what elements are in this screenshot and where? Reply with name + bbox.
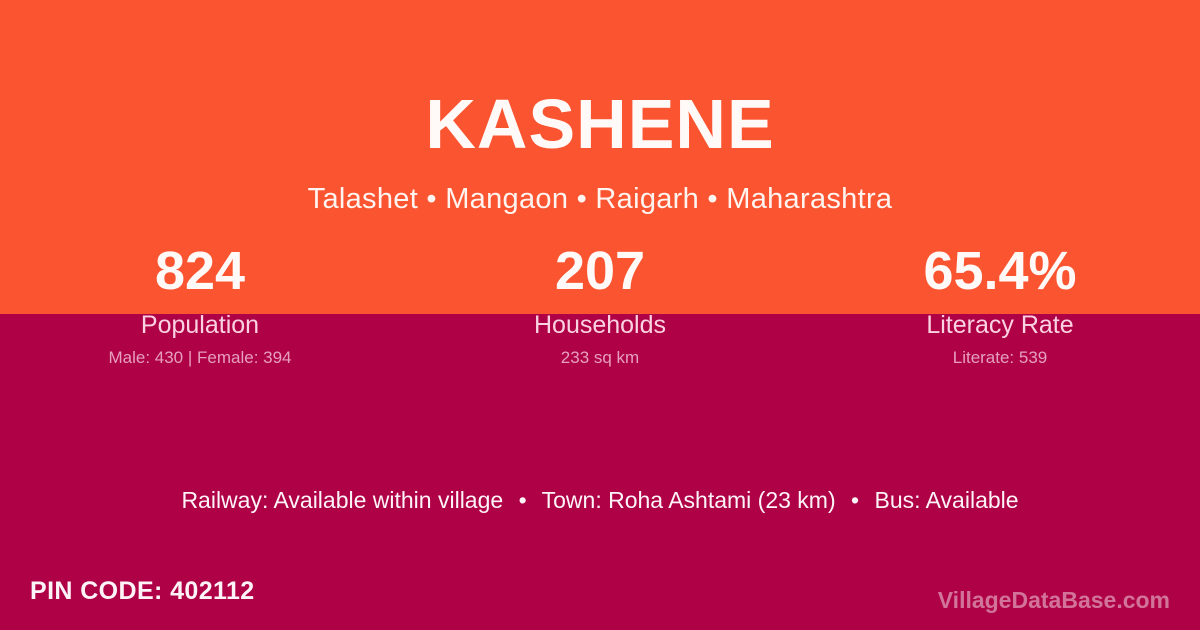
bullet-separator-icon: • (510, 485, 536, 515)
facility-town: Town: Roha Ashtami (23 km) (542, 487, 836, 513)
stat-label: Households (400, 310, 800, 340)
stat-value: 824 (0, 240, 400, 302)
facility-bus: Bus: Available (874, 487, 1018, 513)
page-title: KASHENE (0, 82, 1200, 166)
pin-code-label: PIN CODE: 402112 (30, 576, 255, 606)
stat-population: 824 Population Male: 430 | Female: 394 (0, 240, 400, 368)
stat-detail: 233 sq km (400, 347, 800, 368)
facility-railway: Railway: Available within village (181, 487, 503, 513)
stat-detail: Literate: 539 (800, 347, 1200, 368)
bullet-separator-icon: • (842, 485, 868, 515)
facilities-row: Railway: Available within village • Town… (0, 485, 1200, 515)
breadcrumb: Talashet • Mangaon • Raigarh • Maharasht… (0, 181, 1200, 217)
stat-label: Literacy Rate (800, 310, 1200, 340)
stat-literacy-rate: 65.4% Literacy Rate Literate: 539 (800, 240, 1200, 368)
stats-row: 824 Population Male: 430 | Female: 394 2… (0, 240, 1200, 368)
village-info-card: KASHENE Talashet • Mangaon • Raigarh • M… (0, 0, 1200, 630)
stat-detail: Male: 430 | Female: 394 (0, 347, 400, 368)
stat-households: 207 Households 233 sq km (400, 240, 800, 368)
stat-value: 207 (400, 240, 800, 302)
site-watermark: VillageDataBase.com (938, 586, 1170, 614)
stat-label: Population (0, 310, 400, 340)
stat-value: 65.4% (800, 240, 1200, 302)
